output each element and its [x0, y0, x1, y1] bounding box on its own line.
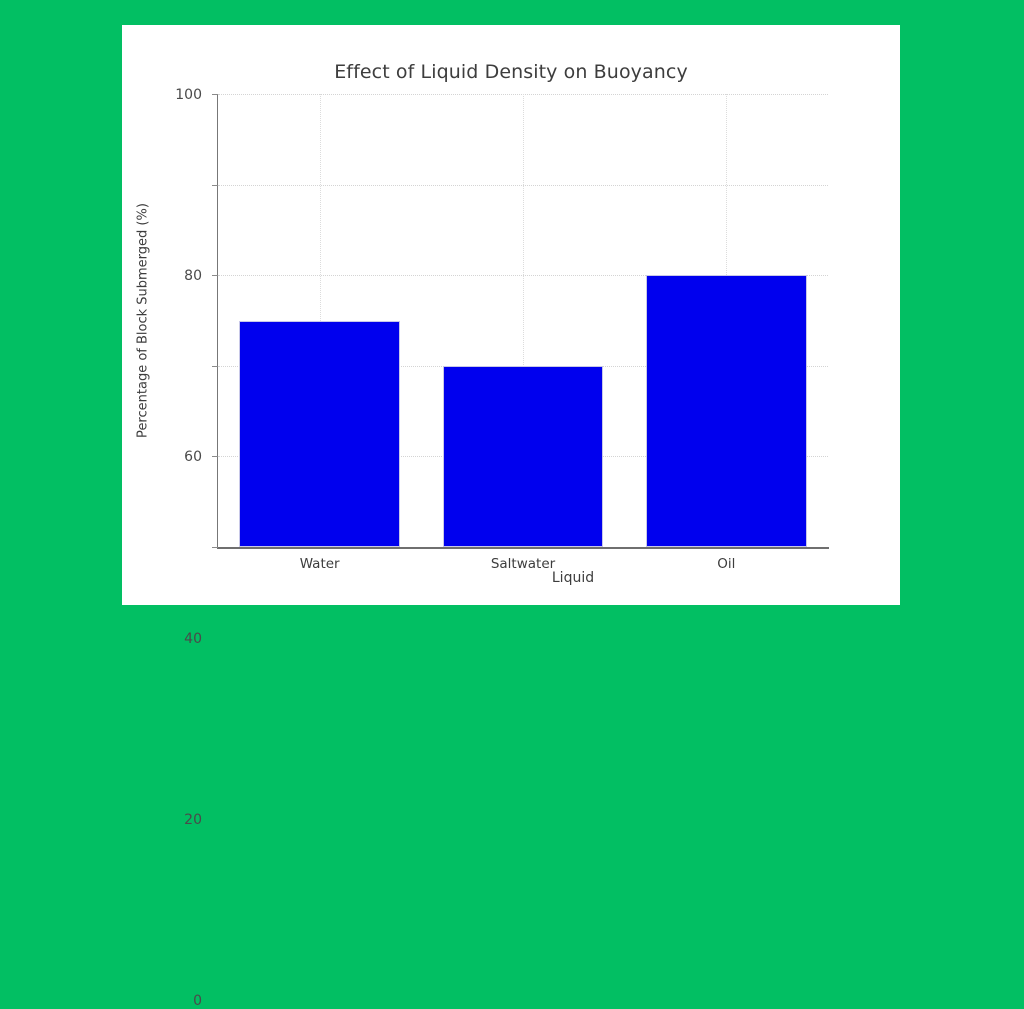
x-tick-label: Saltwater: [491, 556, 555, 572]
y-tick-label: 80: [184, 268, 202, 284]
y-tick-mark: 40: [212, 366, 218, 367]
y-tick-label: 60: [184, 449, 202, 465]
x-axis-title: Liquid: [218, 570, 928, 586]
y-tick-mark: 80: [212, 185, 218, 186]
y-tick-mark: 0: [212, 547, 218, 548]
x-tick-label: Water: [300, 556, 340, 572]
y-axis-spine: [217, 94, 218, 547]
bar-oil: [646, 275, 807, 547]
y-tick-label: 40: [184, 631, 202, 647]
screenshot-root: Effect of Liquid Density on Buoyancy Per…: [0, 0, 1024, 631]
y-tick-mark: 20: [212, 456, 218, 457]
chart-title: Effect of Liquid Density on Buoyancy: [122, 61, 900, 83]
y-axis-title: Percentage of Block Submerged (%): [136, 161, 151, 481]
y-tick-label: 20: [184, 812, 202, 828]
chart-figure-panel: Effect of Liquid Density on Buoyancy Per…: [122, 25, 900, 605]
y-tick-mark: 60: [212, 275, 218, 276]
plot-area: 020406080100 WaterSaltwaterOil: [218, 94, 828, 547]
bar-water: [239, 321, 400, 548]
y-tick-mark: 100: [212, 94, 218, 95]
x-tick-label: Oil: [717, 556, 735, 572]
y-tick-label: 100: [175, 87, 202, 103]
y-tick-label: 0: [193, 993, 202, 1009]
bar-saltwater: [443, 366, 604, 547]
x-axis-spine: [217, 547, 829, 549]
